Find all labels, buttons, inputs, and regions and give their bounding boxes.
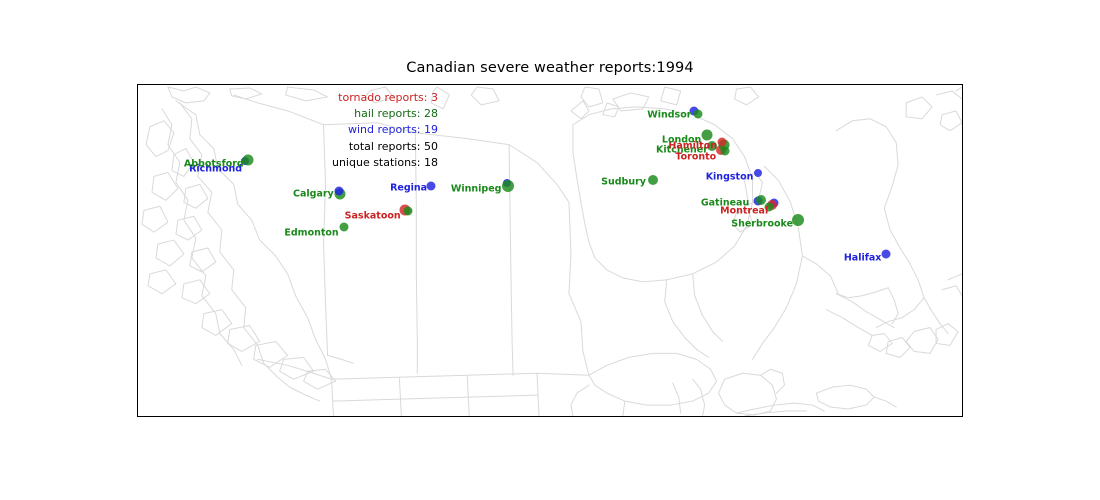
station-marker[interactable] — [717, 137, 726, 146]
station-marker[interactable] — [339, 222, 348, 231]
station-marker[interactable] — [334, 187, 343, 196]
map-plot-area[interactable]: tornado reports: 3 hail reports: 28 wind… — [137, 84, 963, 417]
station-marker[interactable] — [427, 181, 436, 190]
stat-wind-reports: wind reports: 19 — [148, 122, 438, 138]
station-marker[interactable] — [648, 175, 658, 185]
station-label: Sherbrooke — [731, 218, 793, 229]
station-label: Abbotsford — [184, 158, 244, 169]
station-label: Kingston — [706, 172, 754, 183]
stat-total-reports: total reports: 50 — [148, 139, 438, 155]
station-label: Winnipeg — [451, 183, 502, 194]
station-label: Edmonton — [284, 227, 338, 238]
station-label: Saskatoon — [345, 210, 401, 221]
station-marker[interactable] — [882, 250, 891, 259]
station-marker[interactable] — [694, 110, 703, 119]
station-label: Windsor — [647, 109, 691, 120]
page-title: Canadian severe weather reports:1994 — [0, 60, 1100, 76]
station-label: London — [662, 134, 701, 145]
figure-canvas: Canadian severe weather reports:1994 — [0, 0, 1100, 500]
station-marker[interactable] — [242, 154, 253, 165]
station-label: Regina — [390, 183, 427, 194]
stat-tornado-reports: tornado reports: 3 — [148, 90, 438, 106]
station-marker[interactable] — [403, 206, 412, 215]
station-label: Halifax — [844, 253, 882, 264]
station-label: Sudbury — [601, 176, 646, 187]
station-marker[interactable] — [502, 180, 514, 192]
station-label: Montreal — [720, 205, 768, 216]
station-label: Calgary — [293, 189, 334, 200]
stat-hail-reports: hail reports: 28 — [148, 106, 438, 122]
station-marker[interactable] — [792, 214, 804, 226]
station-marker[interactable] — [754, 169, 762, 177]
station-marker[interactable] — [756, 195, 766, 205]
